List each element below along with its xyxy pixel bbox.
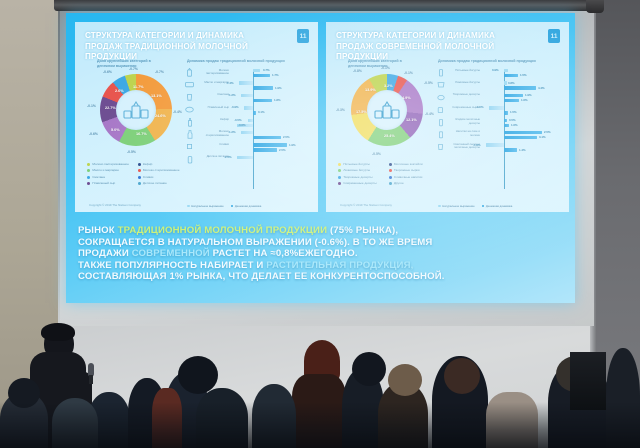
bar-value: -0.5% xyxy=(234,118,242,122)
bar-value: -0.9% xyxy=(231,105,239,109)
bar-money xyxy=(253,136,281,139)
donut-value: 16.7% xyxy=(136,132,147,136)
milk-carton-icon xyxy=(185,68,194,77)
bar-natural xyxy=(504,131,542,134)
bar-value: 1.7% xyxy=(272,73,279,77)
donut-legend: Питьевые йогурты Ложковые йогурты Творож… xyxy=(338,162,434,187)
donut-outer-label: -0.1% xyxy=(381,66,390,70)
bar-natural xyxy=(239,81,253,84)
bar-value: 0.1% xyxy=(258,110,265,114)
bar-value: 1.9% xyxy=(525,93,532,97)
donut-value: 13.1% xyxy=(151,94,162,98)
donut-outer-label: -0.7% xyxy=(155,70,164,74)
bar-natural xyxy=(241,94,253,97)
bar-value: -0.6% xyxy=(238,123,246,127)
projected-slide-area: СТРУКТУРА КАТЕГОРИИ И ДИНАМИКА ПРОДАЖ ТР… xyxy=(66,13,575,303)
bar-row: Молоко стерилизованное -1.2% 2.5% xyxy=(185,129,309,141)
bar-money xyxy=(504,111,508,114)
donut-outer-label: -0.4% xyxy=(425,112,434,116)
bar-value: 4.4% xyxy=(538,86,545,90)
bar-row: Кефир -0.5% -0.6% xyxy=(185,117,309,129)
bar-category-label: Молоко пастеризованное xyxy=(196,69,229,76)
bar-natural xyxy=(504,81,507,84)
bar-row: Молоко пастеризованное 0.7% 1.7% xyxy=(185,67,309,79)
legend-item: Творожные сырки xyxy=(389,168,435,173)
takeaway-line-1: РЫНОК ТРАДИЦИОННОЙ МОЛОЧНОЙ ПРОДУКЦИИ (7… xyxy=(78,225,565,237)
legend-item: Питьевые йогурты xyxy=(338,162,384,167)
bar-value: 1.9% xyxy=(289,143,296,147)
kefir-bottle-icon xyxy=(185,118,194,127)
liquid-dessert-icon xyxy=(436,118,445,127)
donut-legend: Молоко пастеризованное Масло и маргарин … xyxy=(87,162,183,187)
bar-value: -1.2% xyxy=(228,130,236,134)
donut-chart-traditional: 11.7% 13.1% 24.6% 16.7% 5.0% 22.7% 2.6% … xyxy=(89,68,181,160)
bar-money xyxy=(504,124,509,127)
donut-outer-label: -0.5% xyxy=(424,81,433,85)
bar-category-label: Кефир xyxy=(196,118,229,122)
donut-outer-label: -0.6% xyxy=(103,70,112,74)
bar-row: Сливки 1.9% 2.5% xyxy=(185,141,309,153)
donut-outer-label: -0.5% xyxy=(372,152,381,156)
bar-natural xyxy=(504,94,523,97)
bar-value: 1.5% xyxy=(520,73,527,77)
bar-natural xyxy=(253,143,287,146)
bar-chart-modern: Питьевые йогурты 0.9% 1.5% Ложковые йогу… xyxy=(436,67,560,192)
donut-value: 25.4% xyxy=(384,134,395,138)
bar-category-label: Плавленый сыр xyxy=(196,106,229,110)
bar-row: Современные сырки -1.5% 1.5% xyxy=(436,104,560,116)
highlight-traditional: ТРАДИЦИОННОЙ МОЛОЧНОЙ ПРОДУКЦИИ xyxy=(118,225,328,236)
bar-natural xyxy=(244,106,253,109)
donut-value: 22.7% xyxy=(105,106,116,110)
bar-chart-legend: Натуральное выражение Денежная динамика xyxy=(187,204,261,208)
bar-value: 0.8% xyxy=(508,81,515,85)
donut-outer-label: -0.6% xyxy=(89,132,98,136)
legend-item: Современные десерты xyxy=(338,181,384,186)
donut-outer-label: -0.8% xyxy=(353,69,362,73)
drink-yogurt-icon xyxy=(436,68,445,77)
bar-value: -2.5% xyxy=(224,155,232,159)
juice-milk-icon xyxy=(436,130,445,139)
takeaway-line-4: ТАКЖЕ ПОПУЛЯРНОСТЬ НАБИРАЕТ И РАСТИТЕЛЬН… xyxy=(78,260,565,272)
bar-category-label: Напитки на соке и молоке xyxy=(447,130,480,137)
bar-natural xyxy=(248,119,253,122)
spoon-yogurt-icon xyxy=(436,80,445,89)
bar-money xyxy=(253,148,277,151)
bar-category-label: Творожные десерты xyxy=(447,93,480,97)
butter-pack-icon xyxy=(185,80,194,89)
cheese-wedge-icon xyxy=(185,105,194,114)
bar-row: Жидкие молочные десерты 0.5% 1.6% xyxy=(436,117,560,129)
bar-panel-heading: Динамика продаж традиционной молочной пр… xyxy=(187,59,307,64)
bar-money xyxy=(253,99,272,102)
takeaway-line-5: СОСТАВЛЯЮЩАЯ 1% РЫНКА, ЧТО ДЕЛАЕТ ЕЕ КОН… xyxy=(78,271,565,283)
bar-money xyxy=(504,148,517,151)
highlight-modern: СОВРЕМЕННОЙ xyxy=(132,248,210,259)
legend-item: Молочные коктейли xyxy=(389,162,435,167)
donut-value: 17.5% xyxy=(356,110,367,114)
legend-item: Денежная динамика xyxy=(231,204,262,208)
legend-item: Молоко стерилизованное xyxy=(138,168,184,173)
bar-natural xyxy=(241,131,253,134)
baby-food-icon xyxy=(185,155,194,164)
donut-outer-label: -0.4% xyxy=(173,110,182,114)
legend-item: Масло и маргарин xyxy=(87,168,133,173)
donut-value: 2.6% xyxy=(115,89,124,93)
takeaway-text-block: РЫНОК ТРАДИЦИОННОЙ МОЛОЧНОЙ ПРОДУКЦИИ (7… xyxy=(78,225,565,283)
bar-row: Плавленый сыр -0.9% 0.1% xyxy=(185,104,309,116)
dairy-products-icon xyxy=(120,94,152,126)
takeaway-line-3: ПРОДАЖИ СОВРЕМЕННОЙ РАСТЕТ НА ≈0,8%ЕЖЕГО… xyxy=(78,248,565,260)
legend-item: Сливки xyxy=(138,175,184,180)
bar-natural xyxy=(237,156,253,159)
bar-value: -1.5% xyxy=(476,105,484,109)
bar-natural xyxy=(253,69,260,72)
donut-value: 4.9% xyxy=(402,96,411,100)
bar-chart-traditional: Молоко пастеризованное 0.7% 1.7% Масло и… xyxy=(185,67,309,192)
bar-category-label: Питьевые йогурты xyxy=(447,69,480,73)
bar-value: 2.5% xyxy=(283,135,290,139)
bar-value: 0.5% xyxy=(509,118,516,122)
bar-money xyxy=(504,99,519,102)
bar-money xyxy=(504,136,537,139)
right-wall xyxy=(596,0,640,448)
bar-panel-heading: Динамика продаж традиционной молочной пр… xyxy=(438,59,558,64)
projector-screen-housing xyxy=(54,0,602,11)
slide-page-badge: 11 xyxy=(548,29,560,43)
sour-cream-cup-icon xyxy=(185,93,194,102)
bar-value: 1.4% xyxy=(519,148,526,152)
dairy-products-icon xyxy=(371,94,403,126)
donut-outer-label: -0.5% xyxy=(127,150,136,154)
bar-natural xyxy=(504,69,508,72)
takeaway-line-2: СОКРАЩАЕТСЯ В НАТУРАЛЬНОМ ВЫРАЖЕНИИ (-0.… xyxy=(78,237,565,249)
copyright-notice: Copyright © 2019 The Nielsen Company xyxy=(340,203,392,207)
legend-item: Детское питание xyxy=(138,181,184,186)
bar-value: 1.9% xyxy=(275,86,282,90)
bar-natural xyxy=(486,143,504,146)
milk-bottle-icon xyxy=(185,130,194,139)
legend-item: Другое xyxy=(389,181,435,186)
bar-money xyxy=(504,86,536,89)
legend-item: Молоко пастеризованное xyxy=(87,162,133,167)
legend-item: Сметана xyxy=(87,175,133,180)
bar-category-label: Ложковые йогурты xyxy=(447,81,480,85)
donut-value: 12.1% xyxy=(406,118,417,122)
slide-modern-dairy: СТРУКТУРА КАТЕГОРИИ И ДИНАМИКА ПРОДАЖ СО… xyxy=(326,22,569,212)
donut-value: 13.9% xyxy=(365,88,376,92)
bar-natural xyxy=(489,106,504,109)
bar-money xyxy=(253,111,256,114)
legend-item: Сливочные напитки xyxy=(389,175,435,180)
slide-title: СТРУКТУРА КАТЕГОРИИ И ДИНАМИКА ПРОДАЖ СО… xyxy=(336,31,526,63)
bar-natural xyxy=(504,119,507,122)
donut-value: 5.0% xyxy=(111,128,120,132)
bar-row: Сметанный сырок и молочные десерты -1.8%… xyxy=(436,141,560,153)
bar-value: 1.6% xyxy=(511,123,518,127)
copyright-notice: Copyright © 2019 The Nielsen Company xyxy=(89,203,141,207)
legend-item: Творожные десерты xyxy=(338,175,384,180)
bar-row: Ложковые йогурты 0.8% 4.4% xyxy=(436,79,560,91)
projector-screen-end-cap xyxy=(586,0,604,13)
donut-value: 11.7% xyxy=(133,85,144,89)
legend-item: Денежная динамика xyxy=(482,204,513,208)
bar-category-label: Молоко стерилизованное xyxy=(196,130,229,137)
donut-outer-label: -0.3% xyxy=(336,108,345,112)
slide-title: СТРУКТУРА КАТЕГОРИИ И ДИНАМИКА ПРОДАЖ ТР… xyxy=(85,31,275,63)
bar-category-label: Жидкие молочные десерты xyxy=(447,118,480,125)
cream-cup-icon xyxy=(185,142,194,151)
bar-value: -1.2% xyxy=(228,93,236,97)
donut-outer-label: -0.1% xyxy=(87,104,96,108)
bar-row: Творожные десерты 1.9% 1.6% xyxy=(436,92,560,104)
bar-value: 1.5% xyxy=(510,110,517,114)
bar-value: -1.8% xyxy=(473,143,481,147)
sour-cream-dessert-icon xyxy=(436,142,445,151)
bar-chart-legend: Натуральное выражение Денежная динамика xyxy=(438,204,512,208)
legend-item: Кефир xyxy=(138,162,184,167)
left-wall xyxy=(0,0,58,448)
bar-money xyxy=(253,74,270,77)
bar-row: Детское питание -2.5% xyxy=(185,154,309,166)
curd-dessert-icon xyxy=(436,93,445,102)
bar-row: Напитки на соке и молоке 2.5% 3.1% xyxy=(436,129,560,141)
donut-chart-modern: 3.2% 4.9% 12.1% 25.4% 17.5% 13.9% -0.8% … xyxy=(340,68,432,160)
legend-item: Ложковые йогурты xyxy=(338,168,384,173)
bar-value: 0.9% xyxy=(492,68,499,72)
legend-item: Натуральное выражение xyxy=(187,204,224,208)
slide-page-badge: 11 xyxy=(297,29,309,43)
slide-traditional-dairy: СТРУКТУРА КАТЕГОРИИ И ДИНАМИКА ПРОДАЖ ТР… xyxy=(75,22,318,212)
bar-row: Масло и маргарин -1.4% 1.9% xyxy=(185,79,309,91)
bar-row: Сметана -1.2% 1.8% xyxy=(185,92,309,104)
bar-row: Питьевые йогурты 0.9% 1.5% xyxy=(436,67,560,79)
legend-item: Плавленый сыр xyxy=(87,181,133,186)
bar-value: 1.6% xyxy=(521,98,528,102)
bar-category-label: Масло и маргарин xyxy=(196,81,229,85)
legend-item: Натуральное выражение xyxy=(438,204,475,208)
conference-room: СТРУКТУРА КАТЕГОРИИ И ДИНАМИКА ПРОДАЖ ТР… xyxy=(0,0,640,448)
bar-money xyxy=(253,86,273,89)
cheese-curd-icon xyxy=(436,105,445,114)
bar-value: 3.1% xyxy=(539,135,546,139)
bar-value: -1.4% xyxy=(226,81,234,85)
bar-category-label: Сметана xyxy=(196,93,229,97)
bar-value: 2.5% xyxy=(279,148,286,152)
highlight-plant: РАСТИТЕЛЬНАЯ ПРОДУКЦИЯ, xyxy=(266,260,413,271)
bar-category-label: Сливки xyxy=(196,143,229,147)
bar-value: 2.5% xyxy=(544,130,551,134)
donut-value: 3.2% xyxy=(384,84,393,88)
bar-value: 0.7% xyxy=(263,68,270,72)
bar-money xyxy=(504,74,518,77)
donut-value: 24.6% xyxy=(155,114,166,118)
donut-outer-label: -0.1% xyxy=(404,71,413,75)
donut-outer-label: -0.7% xyxy=(129,67,138,71)
bar-value: 1.8% xyxy=(274,98,281,102)
